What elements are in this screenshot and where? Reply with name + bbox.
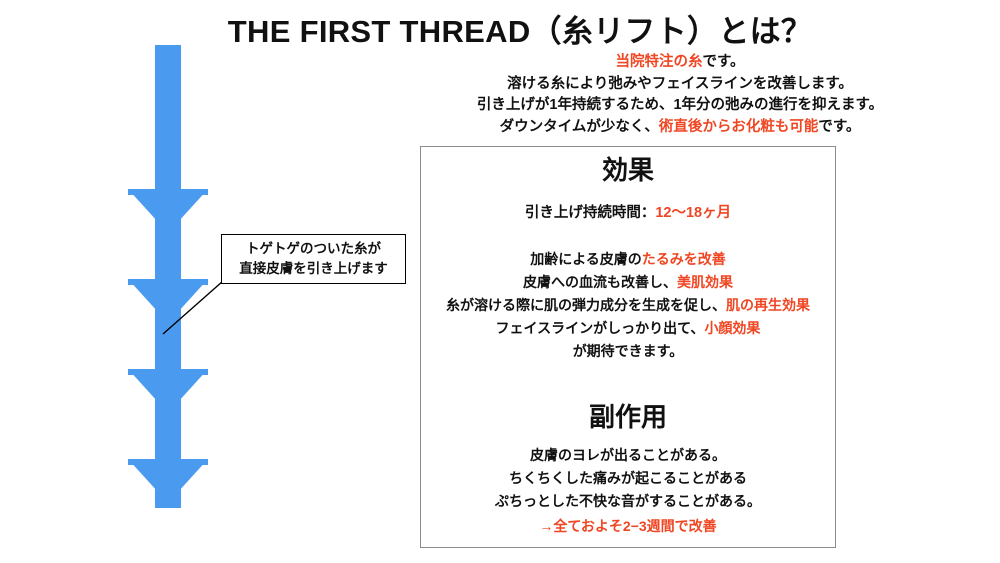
effect-line-1: 加齢による皮膚のたるみを改善 [421, 248, 835, 271]
intro-line-4-seg-2: 術直後からお化粧も可能 [659, 119, 819, 135]
effect-line-1-seg-1: 加齢による皮膚の [530, 251, 642, 267]
effect-line-3: 糸が溶ける際に肌の弾力成分を生成を促し、肌の再生効果 [421, 294, 835, 317]
effect-line-1-seg-2: たるみを改善 [642, 251, 726, 267]
content-panel: 効果 引き上げ持続時間：12〜18ヶ月 加齢による皮膚のたるみを改善皮膚への血流… [420, 146, 836, 548]
effects-heading: 効果 [421, 156, 835, 185]
callout-line-1: トゲトゲのついた糸が [246, 239, 381, 259]
effect-line-4-seg-1: フェイスラインがしっかり出て、 [496, 320, 705, 336]
thread-barb-4-shoulder [128, 459, 208, 465]
callout-leader-line [155, 275, 235, 345]
side-line-4: →全ておよそ2−3週間で改善 [421, 515, 835, 538]
callout-line-2: 直接皮膚を引き上げます [239, 259, 388, 279]
intro-line-3: 引き上げが1年持続するため、1年分の弛みの進行を抑えます。 [380, 95, 980, 117]
effect-line-4: フェイスラインがしっかり出て、小顔効果 [421, 317, 835, 340]
effect-line-5-seg-1: が期待できます。 [573, 343, 684, 359]
intro-line-2-seg-1: 溶ける糸により弛みやフェイスラインを改善します。 [507, 76, 853, 92]
thread-barb-1 [128, 189, 208, 233]
intro-paragraph: 当院特注の糸です。溶ける糸により弛みやフェイスラインを改善します。引き上げが1年… [380, 52, 980, 138]
side-effects-list: 皮膚のヨレが出ることがある。ちくちくした痛みが起こることがあるぷちっとした不快な… [421, 444, 835, 538]
effect-line-2-seg-1: 皮膚への血流も改善し、 [523, 274, 677, 290]
intro-line-2: 溶ける糸により弛みやフェイスラインを改善します。 [380, 74, 980, 96]
thread-barb-3-shoulder [128, 369, 208, 375]
section-spacer [421, 363, 835, 403]
effect-line-4-seg-2: 小顔効果 [704, 320, 760, 336]
effect-line-2-seg-2: 美肌効果 [677, 274, 733, 290]
intro-line-4: ダウンタイムが少なく、術直後からお化粧も可能です。 [380, 117, 980, 139]
intro-line-4-seg-3: です。 [818, 119, 860, 135]
intro-line-3-seg-1: 引き上げが1年持続するため、1年分の弛みの進行を抑えます。 [477, 97, 883, 113]
intro-line-1: 当院特注の糸です。 [380, 52, 980, 74]
intro-line-4-seg-1: ダウンタイムが少なく、 [500, 119, 659, 135]
thread-barb-3 [128, 369, 208, 413]
side-line-2: ちくちくした痛みが起こることがある [421, 467, 835, 490]
thread-barb-1-shoulder [128, 189, 208, 195]
effect-line-5: が期待できます。 [421, 340, 835, 363]
effects-list: 加齢による皮膚のたるみを改善皮膚への血流も改善し、美肌効果糸が溶ける際に肌の弾力… [421, 248, 835, 363]
effect-line-2: 皮膚への血流も改善し、美肌効果 [421, 271, 835, 294]
side-line-1: 皮膚のヨレが出ることがある。 [421, 444, 835, 467]
effects-duration-label: 引き上げ持続時間： [525, 205, 656, 221]
effect-line-3-seg-2: 肌の再生効果 [726, 297, 810, 313]
intro-line-1-seg-2: です。 [702, 54, 744, 70]
thread-barb-4 [128, 459, 208, 503]
slide-canvas: THE FIRST THREAD（糸リフト）とは？ 当院特注の糸です。溶ける糸に… [0, 0, 1000, 563]
callout-box: トゲトゲのついた糸が 直接皮膚を引き上げます [221, 234, 406, 284]
side-line-3: ぷちっとした不快な音がすることがある。 [421, 490, 835, 513]
effects-duration: 引き上げ持続時間：12〜18ヶ月 [421, 201, 835, 222]
intro-line-1-seg-1: 当院特注の糸 [615, 54, 702, 70]
effects-duration-value: 12〜18ヶ月 [655, 205, 731, 221]
side-effects-heading: 副作用 [421, 403, 835, 432]
effect-line-3-seg-1: 糸が溶ける際に肌の弾力成分を生成を促し、 [446, 297, 726, 313]
